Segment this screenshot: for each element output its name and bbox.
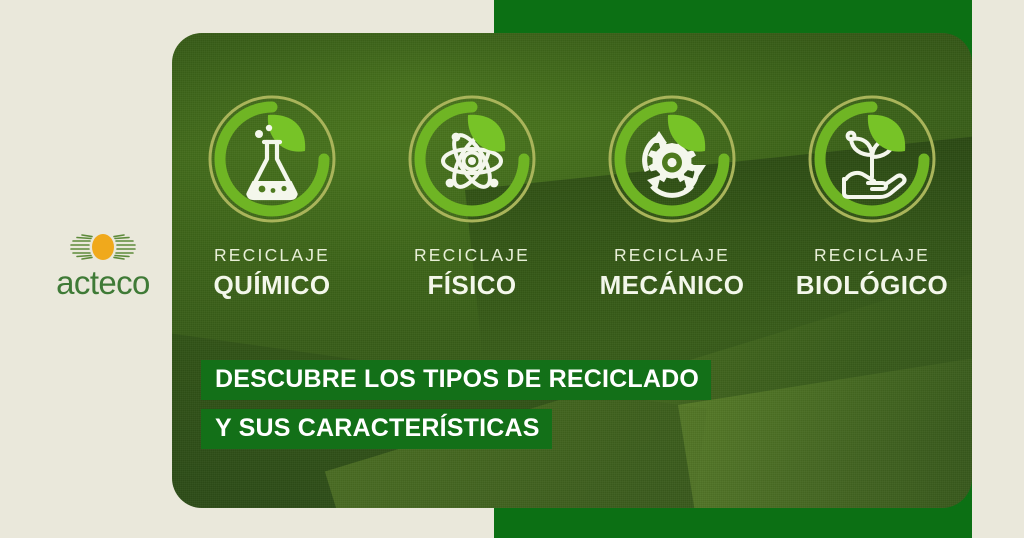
infographic-canvas: acteco bbox=[0, 0, 1024, 538]
recycling-type-biologico[interactable]: RECICLAJE BIOLÓGICO bbox=[780, 93, 964, 299]
label-bottom: BIOLÓGICO bbox=[796, 272, 948, 299]
label-bottom: FÍSICO bbox=[427, 272, 516, 299]
label-bottom: MECÁNICO bbox=[600, 272, 745, 299]
brand-wordmark: acteco bbox=[56, 266, 150, 299]
headline-block: DESCUBRE LOS TIPOS DE RECICLADO Y SUS CA… bbox=[201, 360, 941, 449]
brand-logo: acteco bbox=[44, 232, 162, 299]
hand-sprout-leaf-icon bbox=[806, 93, 938, 225]
label-top: RECICLAJE bbox=[214, 247, 330, 265]
label-top: RECICLAJE bbox=[414, 247, 530, 265]
atom-leaf-icon bbox=[406, 93, 538, 225]
sun-rays-logo-icon bbox=[70, 232, 136, 262]
headline-row-1: DESCUBRE LOS TIPOS DE RECICLADO bbox=[201, 360, 941, 400]
flask-leaf-icon bbox=[206, 93, 338, 225]
headline-row-2: Y SUS CARACTERÍSTICAS bbox=[201, 409, 941, 449]
headline-line-2: Y SUS CARACTERÍSTICAS bbox=[201, 409, 552, 449]
recycling-types-row: RECICLAJE QUÍMICO bbox=[172, 93, 972, 293]
headline-line-1: DESCUBRE LOS TIPOS DE RECICLADO bbox=[201, 360, 711, 400]
label-top: RECICLAJE bbox=[814, 247, 930, 265]
label-bottom: QUÍMICO bbox=[214, 272, 331, 299]
gear-recycle-arrows-leaf-icon bbox=[606, 93, 738, 225]
recycling-type-mecanico[interactable]: RECICLAJE MECÁNICO bbox=[580, 93, 764, 299]
main-content-card: RECICLAJE QUÍMICO bbox=[172, 33, 972, 508]
label-top: RECICLAJE bbox=[614, 247, 730, 265]
recycling-type-quimico[interactable]: RECICLAJE QUÍMICO bbox=[180, 93, 364, 299]
recycling-type-fisico[interactable]: RECICLAJE FÍSICO bbox=[380, 93, 564, 299]
